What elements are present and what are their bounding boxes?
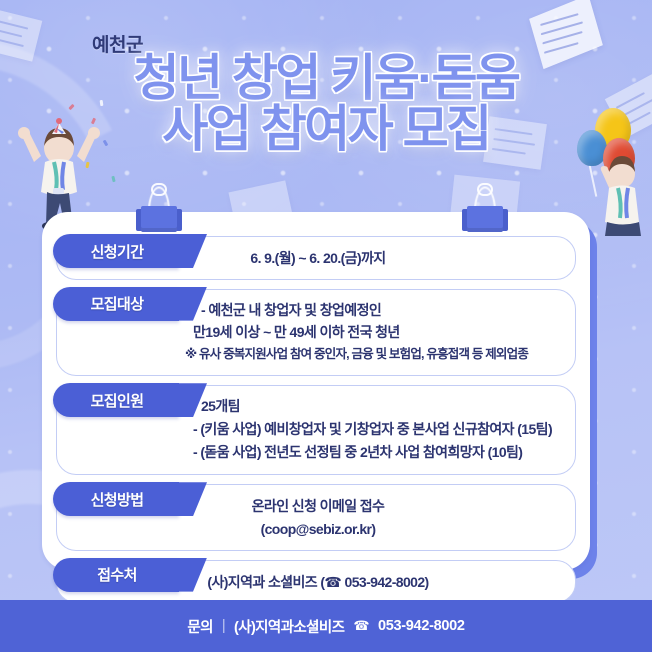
- row-value-application-period: 6. 9.(월) ~ 6. 20.(금)까지: [207, 247, 561, 270]
- footer-phone: 053-942-8002: [378, 618, 465, 634]
- info-row-application-period: 신청기간 6. 9.(월) ~ 6. 20.(금)까지: [56, 236, 576, 280]
- row-label-eligibility: 모집대상: [53, 287, 179, 321]
- info-row-box: 모집인원 25개팀 - (키움 사업) 예비창업자 및 기창업자 중 본사업 신…: [56, 385, 576, 475]
- row-value-eligibility: - 예천군 내 창업자 및 창업예정인 만19세 이상 ~ 만 49세 이하 전…: [201, 299, 561, 365]
- info-row-list: 신청기간 6. 9.(월) ~ 6. 20.(금)까지 모집대상 - 예천군 내…: [42, 212, 590, 612]
- footer-bar: 문의 | (사)지역과소셜비즈 ☎ 053-942-8002: [0, 600, 652, 652]
- binder-clip-wire-top: [151, 183, 167, 196]
- binder-clip-wire-top: [477, 183, 493, 196]
- person-with-balloons-illustration: [592, 150, 652, 236]
- footer-organization: (사)지역과소셜비즈: [234, 616, 344, 637]
- row-label-application-period: 신청기간: [53, 234, 179, 268]
- page-title-line-2: 사업 참여자 모집: [0, 105, 652, 154]
- row-value-how-to-apply: 온라인 신청 이메일 접수 (coop@sebiz.or.kr): [207, 495, 561, 540]
- footer-inquiry-label: 문의: [187, 616, 212, 637]
- row-label-receiving-office: 접수처: [53, 558, 179, 592]
- info-row-box: 접수처 (사)지역과 소셜비즈 (☎ 053-942-8002): [56, 560, 576, 604]
- info-row-receiving-office: 접수처 (사)지역과 소셜비즈 (☎ 053-942-8002): [56, 560, 576, 604]
- row-value-quota: 25개팀 - (키움 사업) 예비창업자 및 기창업자 중 본사업 신규참여자 …: [201, 395, 561, 463]
- page-title-line-1: 청년 창업 키움·돋움: [0, 54, 652, 103]
- row-label-quota: 모집인원: [53, 383, 179, 417]
- info-row-eligibility: 모집대상 - 예천군 내 창업자 및 창업예정인 만19세 이상 ~ 만 49세…: [56, 289, 576, 377]
- row-value-receiving-office: (사)지역과 소셜비즈 (☎ 053-942-8002): [207, 571, 561, 594]
- info-row-quota: 모집인원 25개팀 - (키움 사업) 예비창업자 및 기창업자 중 본사업 신…: [56, 385, 576, 475]
- poster-root: 예천군 청년 창업 키움·돋움 사업 참여자 모집 신청기간 6. 9.(월) …: [0, 0, 652, 652]
- info-row-box: 신청방법 온라인 신청 이메일 접수 (coop@sebiz.or.kr): [56, 484, 576, 550]
- footer-divider: |: [222, 618, 225, 634]
- info-row-box: 신청기간 6. 9.(월) ~ 6. 20.(금)까지: [56, 236, 576, 280]
- page-title: 청년 창업 키움·돋움 사업 참여자 모집: [0, 54, 652, 154]
- info-row-box: 모집대상 - 예천군 내 창업자 및 창업예정인 만19세 이상 ~ 만 49세…: [56, 289, 576, 377]
- row-label-how-to-apply: 신청방법: [53, 482, 179, 516]
- info-row-how-to-apply: 신청방법 온라인 신청 이메일 접수 (coop@sebiz.or.kr): [56, 484, 576, 550]
- telephone-icon: ☎: [353, 618, 369, 634]
